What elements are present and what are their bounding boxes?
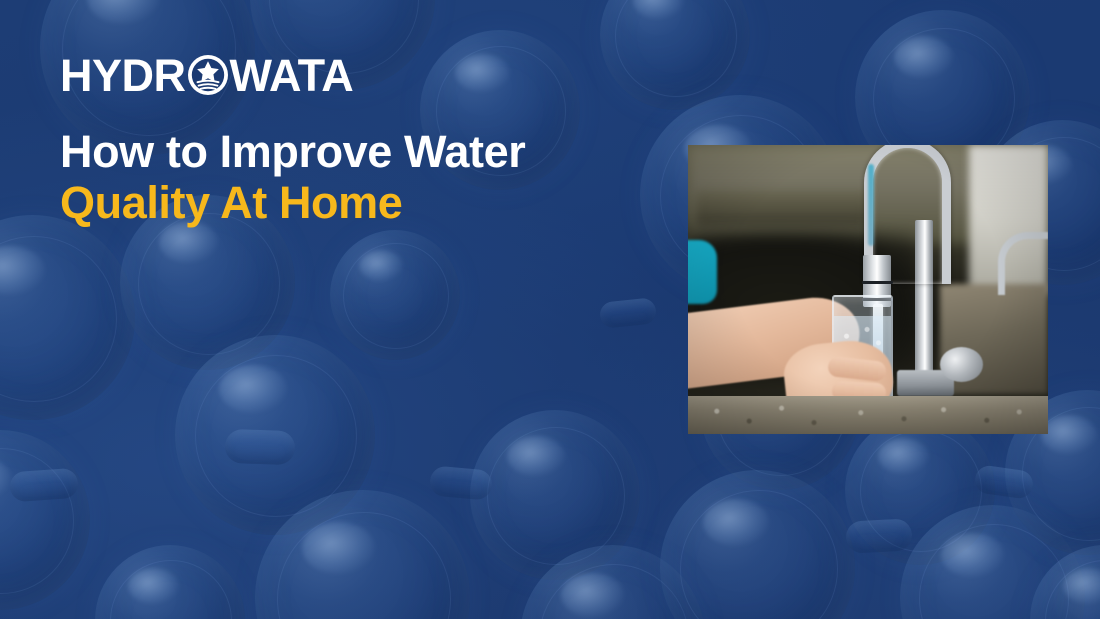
photo-faucet-handle (940, 347, 983, 382)
tap-water-glass-photo (688, 145, 1048, 434)
star-wave-circle-icon (187, 54, 229, 96)
hydrowata-banner: HYDR WATA How to Improve Water Quality A… (0, 0, 1100, 619)
page-title: How to Improve Water Quality At Home (60, 128, 525, 226)
background-bubble-connector (224, 429, 295, 465)
background-bubble-connector (845, 518, 913, 553)
background-bubble-connector (429, 465, 493, 500)
background-bubble (330, 230, 460, 360)
brand-logo-wordmark: HYDR WATA (60, 53, 353, 98)
page-title-line-2: Quality At Home (60, 179, 525, 227)
brand-logo-text-suffix: WATA (230, 53, 354, 98)
brand-logo[interactable]: HYDR WATA (60, 50, 353, 100)
photo-cabinet (695, 191, 868, 226)
background-bubble-connector (9, 468, 79, 503)
photo-countertop-speckle (688, 396, 1048, 434)
photo-content (688, 145, 1048, 434)
page-title-line-1: How to Improve Water (60, 128, 525, 176)
photo-side-tap (998, 232, 1048, 296)
brand-logo-text-prefix: HYDR (60, 53, 186, 98)
photo-sleeve (688, 240, 717, 304)
photo-faucet-ring-upper (862, 281, 894, 284)
